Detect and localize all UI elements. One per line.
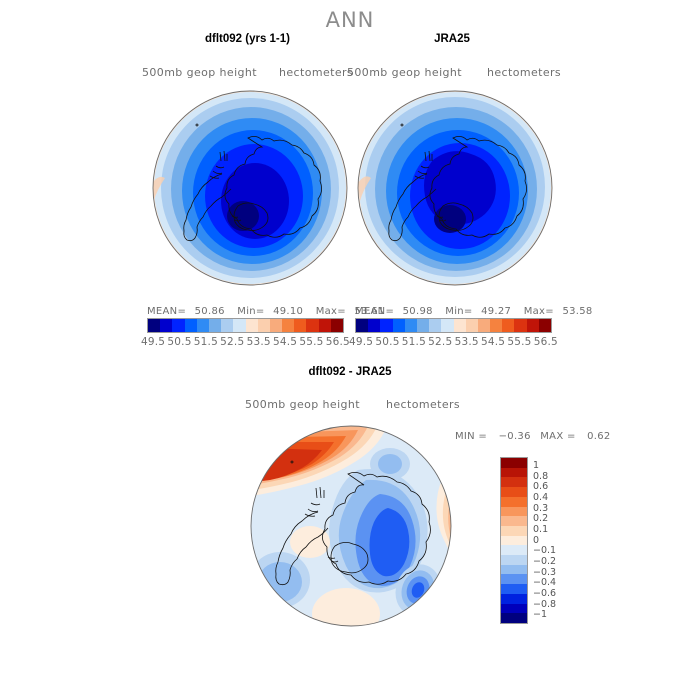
colorbar-cell-difference-12 xyxy=(501,574,527,584)
colorbar-cell-model-10 xyxy=(270,319,282,332)
colorbar-ticks-model: 49.550.551.552.553.554.555.556.5 xyxy=(141,336,350,348)
colorbar-cell-model-1 xyxy=(160,319,172,332)
colorbar-cell-obs-5 xyxy=(417,319,429,332)
colorbar-cell-obs-6 xyxy=(429,319,441,332)
colorbar-cell-obs-9 xyxy=(466,319,478,332)
panel-title-difference: dflt092 - JRA25 xyxy=(250,366,450,378)
colorbar-cell-difference-7 xyxy=(501,526,527,536)
colorbar-cell-difference-11 xyxy=(501,565,527,575)
stat-min-value-difference: −0.36 xyxy=(499,431,531,442)
panel-title-obs: JRA25 xyxy=(352,33,552,45)
colorbar-cell-model-4 xyxy=(197,319,209,332)
colorbar-cell-obs-12 xyxy=(502,319,514,332)
stats-line-difference: MIN = −0.36 MAX = 0.62 xyxy=(455,431,611,442)
colorbar-cell-obs-7 xyxy=(441,319,453,332)
colorbar-cell-model-2 xyxy=(172,319,184,332)
colorbar-cell-obs-3 xyxy=(393,319,405,332)
colorbar-label-difference-0: 1 xyxy=(533,461,556,471)
colorbar-label-difference-10: −0.3 xyxy=(533,568,556,578)
stat-mean-label-obs: MEAN= xyxy=(355,306,394,317)
colorbar-cell-difference-5 xyxy=(501,507,527,517)
colorbar-cell-difference-13 xyxy=(501,584,527,594)
colorbar-tick-model-2: 51.5 xyxy=(194,336,218,348)
colorbar-cell-model-13 xyxy=(306,319,318,332)
colorbar-cell-model-11 xyxy=(282,319,294,332)
polar-map-obs xyxy=(355,88,555,298)
colorbar-cell-obs-10 xyxy=(478,319,490,332)
colorbar-tick-model-5: 54.5 xyxy=(273,336,297,348)
colorbar-cell-model-12 xyxy=(294,319,306,332)
colorbar-label-difference-8: −0.1 xyxy=(533,546,556,556)
stat-mean-value-obs: 50.98 xyxy=(403,306,433,317)
colorbar-obs xyxy=(355,318,552,333)
colorbar-label-difference-5: 0.2 xyxy=(533,514,556,524)
colorbar-tick-obs-0: 49.5 xyxy=(349,336,373,348)
colorbar-cell-model-6 xyxy=(221,319,233,332)
panel-units-label-obs: hectometers xyxy=(487,66,561,79)
colorbar-cell-model-8 xyxy=(246,319,258,332)
colorbar-tick-obs-1: 50.5 xyxy=(375,336,399,348)
panel-units-label-model: hectometers xyxy=(279,66,353,79)
colorbar-tick-model-6: 55.5 xyxy=(299,336,323,348)
colorbar-label-difference-3: 0.4 xyxy=(533,493,556,503)
stat-mean-value-model: 50.86 xyxy=(195,306,225,317)
colorbar-cell-model-9 xyxy=(258,319,270,332)
colorbar-label-difference-2: 0.6 xyxy=(533,482,556,492)
colorbar-cell-difference-15 xyxy=(501,604,527,614)
colorbar-cell-difference-0 xyxy=(501,458,527,468)
colorbar-tick-model-1: 50.5 xyxy=(167,336,191,348)
colorbar-cell-obs-2 xyxy=(380,319,392,332)
stats-line-obs: MEAN= 50.98 Min= 49.27 Max= 53.58 xyxy=(355,306,593,317)
stat-min-label-difference: MIN = xyxy=(455,431,487,442)
panel-title-model: dflt092 (yrs 1-1) xyxy=(145,33,350,45)
colorbar-label-difference-4: 0.3 xyxy=(533,504,556,514)
panel-variable-label-model: 500mb geop height xyxy=(142,66,257,79)
colorbar-label-difference-14: −1 xyxy=(533,610,556,620)
stat-min-label-obs: Min= xyxy=(445,306,472,317)
stat-max-label-difference: MAX = xyxy=(540,431,575,442)
colorbar-cell-model-0 xyxy=(148,319,160,332)
polar-map-difference xyxy=(238,422,466,637)
colorbar-label-difference-1: 0.8 xyxy=(533,472,556,482)
colorbar-labels-difference: 10.80.60.40.30.20.10−0.1−0.2−0.3−0.4−0.6… xyxy=(533,461,556,620)
colorbar-tick-model-7: 56.5 xyxy=(326,336,350,348)
stat-max-value-difference: 0.62 xyxy=(587,431,610,442)
colorbar-label-difference-13: −0.8 xyxy=(533,600,556,610)
colorbar-tick-obs-5: 54.5 xyxy=(481,336,505,348)
colorbar-tick-obs-2: 51.5 xyxy=(402,336,426,348)
colorbar-cell-difference-4 xyxy=(501,497,527,507)
colorbar-cell-obs-15 xyxy=(539,319,551,332)
stat-mean-label-model: MEAN= xyxy=(147,306,186,317)
colorbar-cell-obs-0 xyxy=(356,319,368,332)
panel-units-label-difference: hectometers xyxy=(386,398,460,411)
colorbar-tick-model-4: 53.5 xyxy=(247,336,271,348)
panel-variable-label-difference: 500mb geop height xyxy=(245,398,360,411)
colorbar-cell-model-5 xyxy=(209,319,221,332)
colorbar-cell-model-14 xyxy=(319,319,331,332)
stat-max-label-obs: Max= xyxy=(524,306,554,317)
colorbar-cell-difference-10 xyxy=(501,555,527,565)
colorbar-cell-obs-1 xyxy=(368,319,380,332)
colorbar-cell-difference-14 xyxy=(501,594,527,604)
colorbar-difference xyxy=(500,457,528,624)
colorbar-cell-difference-3 xyxy=(501,487,527,497)
colorbar-cell-difference-9 xyxy=(501,545,527,555)
colorbar-cell-model-15 xyxy=(331,319,343,332)
colorbar-cell-obs-13 xyxy=(514,319,526,332)
colorbar-cell-difference-8 xyxy=(501,536,527,546)
stat-min-label-model: Min= xyxy=(237,306,264,317)
colorbar-tick-model-3: 52.5 xyxy=(220,336,244,348)
stat-min-value-obs: 49.27 xyxy=(481,306,511,317)
polar-map-model xyxy=(150,88,350,298)
colorbar-cell-difference-2 xyxy=(501,477,527,487)
stats-line-model: MEAN= 50.86 Min= 49.10 Max= 53.61 xyxy=(147,306,385,317)
colorbar-label-difference-7: 0 xyxy=(533,536,556,546)
colorbar-cell-difference-1 xyxy=(501,468,527,478)
colorbar-tick-obs-7: 56.5 xyxy=(534,336,558,348)
colorbar-cell-difference-6 xyxy=(501,516,527,526)
colorbar-label-difference-6: 0.1 xyxy=(533,525,556,535)
panel-variable-label-obs: 500mb geop height xyxy=(347,66,462,79)
colorbar-label-difference-9: −0.2 xyxy=(533,557,556,567)
stat-max-label-model: Max= xyxy=(316,306,346,317)
colorbar-tick-obs-4: 53.5 xyxy=(455,336,479,348)
page-title: ANN xyxy=(0,8,700,32)
stat-max-value-obs: 53.58 xyxy=(562,306,592,317)
colorbar-cell-obs-14 xyxy=(527,319,539,332)
colorbar-ticks-obs: 49.550.551.552.553.554.555.556.5 xyxy=(349,336,558,348)
colorbar-tick-obs-6: 55.5 xyxy=(507,336,531,348)
colorbar-cell-obs-4 xyxy=(405,319,417,332)
colorbar-cell-model-7 xyxy=(233,319,245,332)
colorbar-label-difference-11: −0.4 xyxy=(533,578,556,588)
stat-min-value-model: 49.10 xyxy=(273,306,303,317)
colorbar-tick-obs-3: 52.5 xyxy=(428,336,452,348)
colorbar-cell-obs-8 xyxy=(454,319,466,332)
colorbar-cell-model-3 xyxy=(185,319,197,332)
colorbar-label-difference-12: −0.6 xyxy=(533,589,556,599)
colorbar-cell-difference-16 xyxy=(501,613,527,623)
colorbar-cell-obs-11 xyxy=(490,319,502,332)
colorbar-model xyxy=(147,318,344,333)
colorbar-tick-model-0: 49.5 xyxy=(141,336,165,348)
